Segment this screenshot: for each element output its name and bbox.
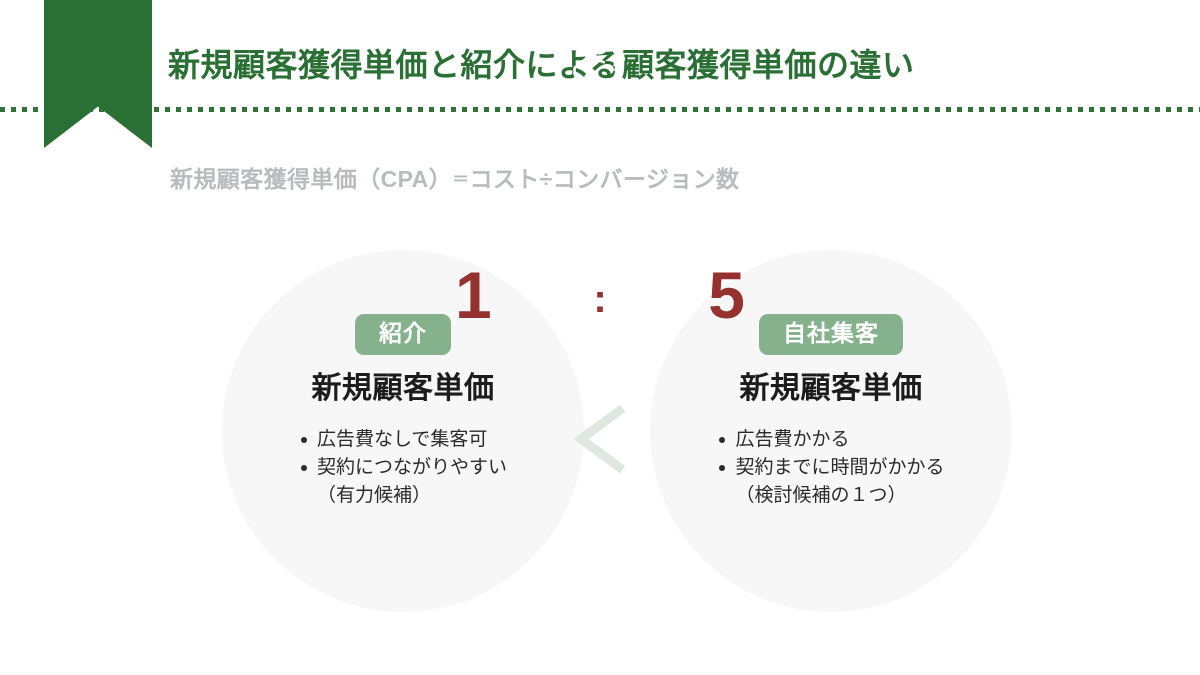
ribbon-banner [44,0,152,148]
panel-heading-own-acquisition: 新規顧客単価 [740,372,923,405]
list-item: 広告費かかる [717,426,944,454]
badge-own-acquisition: 自社集客 [759,314,903,355]
list-item: （有力候補） [299,482,507,510]
ratio-separator: : [593,279,606,319]
bullet-list-own-acquisition: 広告費かかる 契約までに時間がかかる （検討候補の１つ） [717,426,944,510]
panel-heading-referral: 新規顧客単価 [312,372,495,405]
list-item: 契約までに時間がかかる [717,454,944,482]
list-item: （検討候補の１つ） [717,482,944,510]
cpa-formula: 新規顧客獲得単価（CPA）＝コスト÷コンバージョン数 [170,160,739,194]
badge-referral: 紹介 [355,314,451,355]
cpa-formula-suffix: コスト÷コンバージョン数 [469,166,739,192]
ratio-left-value: 1 [455,262,492,328]
slide-root: 新規顧客獲得単価と紹介による顧客獲得単価の違い 新規顧客獲得単価（CPA）＝コス… [0,0,1200,675]
list-item: 広告費なしで集客可 [299,426,507,454]
cpa-formula-prefix: 新規顧客獲得単価（CPA） [170,166,452,192]
cpa-formula-equals: ＝ [452,170,469,189]
piggy-bank-icon [567,30,633,96]
dotted-divider [0,107,1200,112]
page-title: 新規顧客獲得単価と紹介による顧客獲得単価の違い [168,40,915,86]
ratio-display: 1 : 5 [455,262,745,328]
list-item: 契約につながりやすい [299,454,507,482]
bullet-list-referral: 広告費なしで集客可 契約につながりやすい （有力候補） [299,426,507,510]
ratio-right-value: 5 [708,262,745,328]
less-than-icon [571,405,631,473]
